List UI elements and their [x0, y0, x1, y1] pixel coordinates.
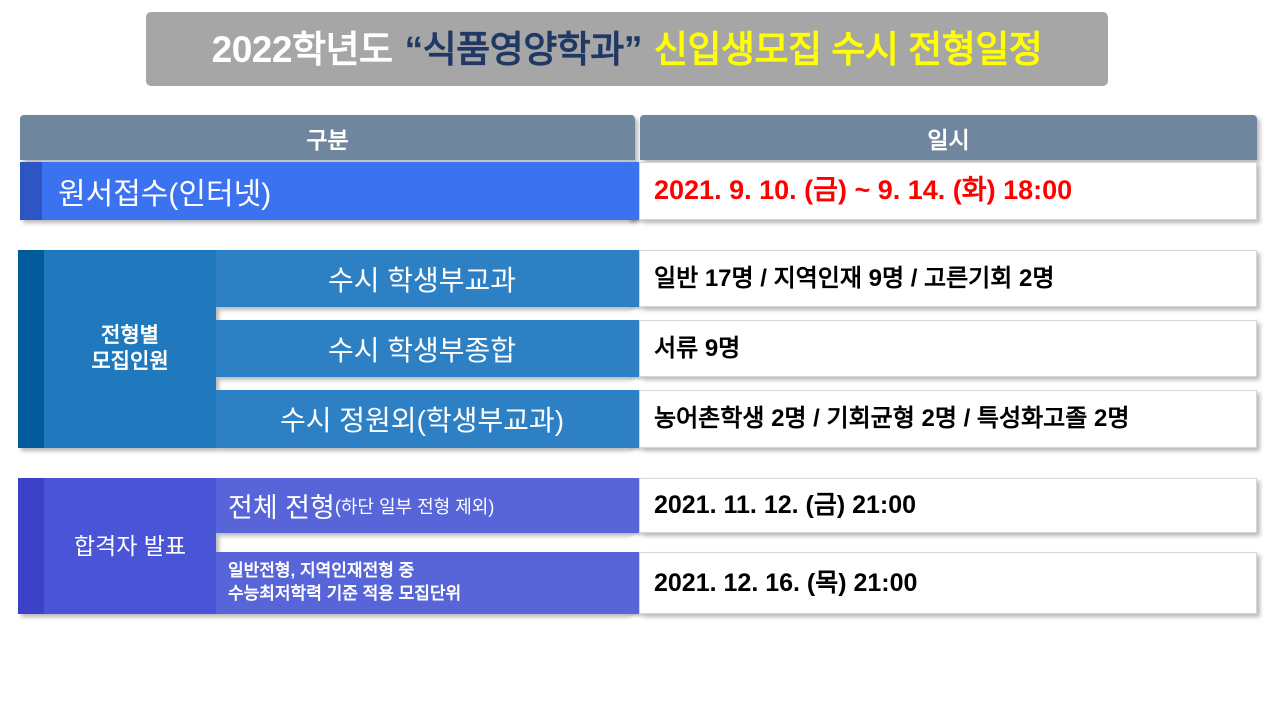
block-announcement-value-cell-0: 2021. 11. 12. (금) 21:00 [639, 478, 1257, 533]
block-quota-accent-stripe [18, 250, 44, 448]
table-header-category-label: 구분 [306, 121, 348, 155]
row-application-value: 2021. 9. 10. (금) ~ 9. 14. (화) 18:00 [640, 175, 1072, 206]
block-announcement-sub-label-1-line-1: 일반전형, 지역인재전형 중 [228, 560, 461, 583]
block-quota-label-line-2: 모집인원 [91, 349, 168, 375]
row-application-value-stripe [628, 162, 639, 220]
block-quota-sub-label-0: 수시 학생부교과 [216, 250, 628, 307]
block-quota-sub-label-2: 수시 정원외(학생부교과) [216, 390, 628, 448]
block-quota-value-stripe-0 [628, 250, 639, 307]
block-announcement-value-cell-1: 2021. 12. 16. (목) 21:00 [639, 552, 1257, 614]
block-quota-value-1: 서류 9명 [640, 335, 740, 363]
block-announcement-value-stripe-1 [628, 552, 639, 614]
block-announcement-sub-label-1-line-2: 수능최저학력 기준 적용 모집단위 [228, 583, 461, 606]
block-quota-sub-label-2-text: 수시 정원외(학생부교과) [280, 399, 564, 439]
block-announcement-value-stripe-0 [628, 478, 639, 533]
block-announcement-label-text-wrap: 합격자 발표 [44, 478, 216, 614]
row-application-label-cell: 원서접수(인터넷) [20, 162, 635, 220]
table-header-category: 구분 [20, 115, 635, 160]
block-quota-value-0: 일반 17명 / 지역인재 9명 / 고른기회 2명 [640, 265, 1054, 293]
block-announcement-accent-stripe [18, 478, 44, 614]
block-quota-value-stripe-2 [628, 390, 639, 448]
block-announcement-sub-label-0-paren: (하단 일부 전형 제외) [335, 493, 494, 519]
title-department: “식품영양학과” [405, 31, 642, 68]
block-quota-sub-label-0-text: 수시 학생부교과 [328, 259, 516, 299]
block-quota-label-cell: 전형별 모집인원 [18, 250, 216, 448]
block-announcement-sub-label-0-main: 전체 전형 [228, 486, 335, 525]
block-announcement-sub-label-0: 전체 전형 (하단 일부 전형 제외) [216, 478, 628, 533]
block-quota-value-stripe-1 [628, 320, 639, 377]
block-announcement-label-cell: 합격자 발표 [18, 478, 216, 614]
block-announcement-value-1: 2021. 12. 16. (목) 21:00 [640, 569, 917, 598]
block-announcement-value-0: 2021. 11. 12. (금) 21:00 [640, 491, 916, 520]
slide-title-banner: 2022학년도 “식품영양학과” 신입생모집 수시 전형일정 [146, 12, 1108, 86]
title-subject: 신입생모집 수시 전형일정 [654, 31, 1043, 68]
block-quota-value-cell-1: 서류 9명 [639, 320, 1257, 377]
slide-canvas: 2022학년도 “식품영양학과” 신입생모집 수시 전형일정 구분 일시 원서접… [0, 0, 1280, 720]
block-quota-value-cell-0: 일반 17명 / 지역인재 9명 / 고른기회 2명 [639, 250, 1257, 307]
block-quota-label-text-wrap: 전형별 모집인원 [44, 250, 216, 448]
block-quota-value-2: 농어촌학생 2명 / 기회균형 2명 / 특성화고졸 2명 [640, 405, 1129, 433]
row-application-label: 원서접수(인터넷) [20, 169, 271, 213]
block-announcement-sub-label-1: 일반전형, 지역인재전형 중 수능최저학력 기준 적용 모집단위 [216, 552, 628, 614]
table-header-date: 일시 [640, 115, 1257, 160]
table-header-date-label: 일시 [927, 121, 969, 155]
block-announcement-label: 합격자 발표 [74, 532, 186, 561]
block-quota-label-line-1: 전형별 [91, 323, 168, 349]
block-quota-sub-label-1: 수시 학생부종합 [216, 320, 628, 377]
row-application-value-cell: 2021. 9. 10. (금) ~ 9. 14. (화) 18:00 [639, 162, 1257, 220]
title-year: 2022학년도 [212, 31, 393, 68]
block-quota-value-cell-2: 농어촌학생 2명 / 기회균형 2명 / 특성화고졸 2명 [639, 390, 1257, 448]
block-quota-sub-label-1-text: 수시 학생부종합 [328, 329, 516, 369]
